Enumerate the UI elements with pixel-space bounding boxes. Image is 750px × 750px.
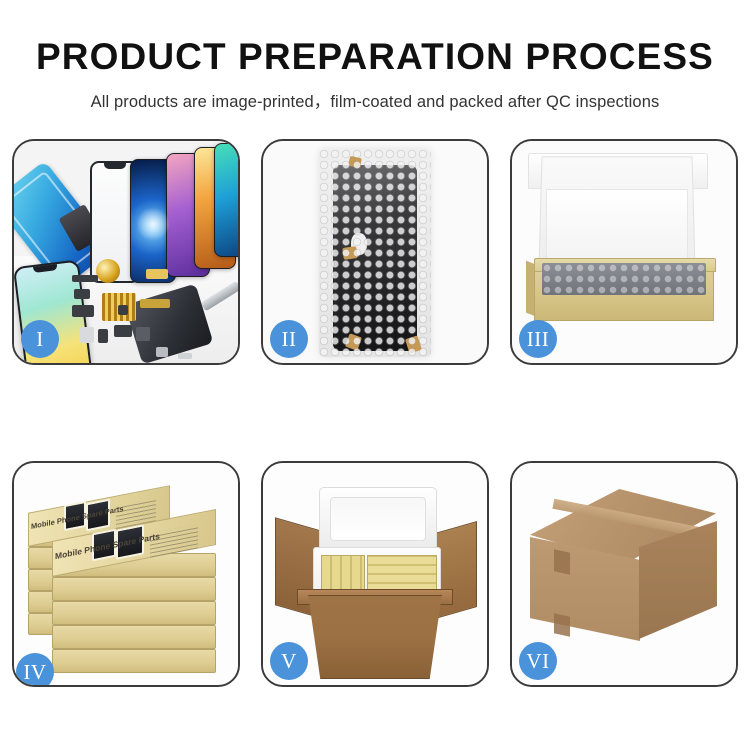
small-part (80, 327, 94, 343)
small-part (98, 329, 108, 343)
page-header: PRODUCT PREPARATION PROCESS All products… (0, 0, 750, 112)
page-subtitle: All products are image-printed，film-coat… (0, 88, 750, 112)
step-badge-1: I (21, 320, 59, 358)
small-part (118, 305, 128, 315)
step-badge-5: V (270, 642, 308, 680)
bubble-wrapped-contents (542, 263, 706, 295)
photo-stacked-retail-boxes: Mobile Phone Spare Parts Mobile Phone Sp… (14, 463, 238, 685)
stacked-box (52, 577, 216, 601)
small-part (114, 325, 132, 337)
step-badge-2: II (270, 320, 308, 358)
screen-glow (136, 207, 170, 241)
small-part (72, 305, 94, 317)
small-part (74, 289, 90, 299)
carton-tape-tab (554, 549, 570, 574)
process-step-panel-3[interactable]: III (510, 139, 738, 365)
stacked-box (52, 649, 216, 673)
stacked-box (52, 625, 216, 649)
phone-display-teal (214, 143, 238, 257)
process-step-panel-2[interactable]: II (261, 139, 489, 365)
small-part (72, 275, 98, 282)
small-part (140, 299, 170, 308)
step-badge-6: VI (519, 642, 557, 680)
brown-carton-body (299, 595, 451, 679)
small-part (156, 347, 168, 357)
bubble-wrap-bag (319, 149, 431, 357)
process-step-panel-6[interactable]: VI (510, 461, 738, 687)
process-step-panel-4[interactable]: Mobile Phone Spare Parts Mobile Phone Sp… (12, 461, 240, 687)
stacked-box (52, 601, 216, 625)
small-part (146, 269, 168, 279)
step-badge-4: IV (16, 653, 54, 687)
page-title: PRODUCT PREPARATION PROCESS (0, 38, 750, 77)
small-part (136, 327, 150, 341)
carton-tape-tab (554, 613, 570, 636)
box-stack: Mobile Phone Spare Parts Mobile Phone Sp… (20, 481, 232, 671)
step-badge-3: III (519, 320, 557, 358)
process-step-grid: I II III (12, 139, 738, 687)
gold-coil-part (96, 259, 120, 283)
foam-sheet (546, 189, 688, 269)
process-step-panel-5[interactable]: V (261, 461, 489, 687)
small-part (178, 353, 192, 359)
foam-box-lid (319, 487, 437, 551)
process-step-panel-1[interactable]: I (12, 139, 240, 365)
bubble-texture (319, 149, 431, 357)
